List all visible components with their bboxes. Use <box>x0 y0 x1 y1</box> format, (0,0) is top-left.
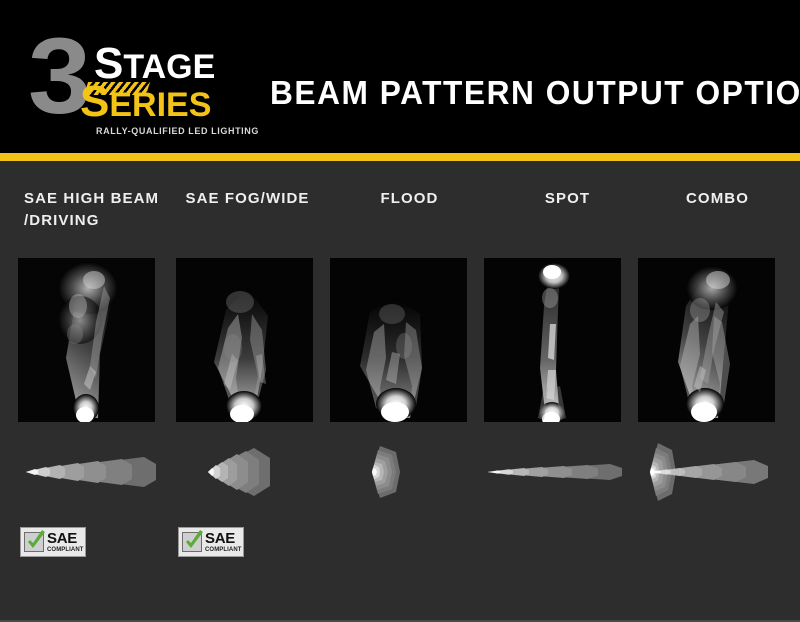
logo-tagline: RALLY-QUALIFIED LED LIGHTING <box>96 126 259 136</box>
column-label-line2: /DRIVING <box>24 212 99 229</box>
beam-column-combo: COMBO <box>638 161 793 620</box>
beam-photo-image <box>330 258 467 422</box>
beam-diagram <box>636 441 786 503</box>
beam-pattern-poster: 3 STAGE SERIES RALLY-QUALIFIED LED LIGHT… <box>0 0 800 622</box>
checkbox-frame <box>182 532 202 552</box>
accent-divider-bar <box>0 153 800 161</box>
beam-pattern-columns: SAE HIGH BEAM/DRIVING <box>0 161 800 620</box>
sae-compliant-badge: SAE COMPLIANT <box>178 527 244 557</box>
column-label-line1: SAE HIGH BEAM <box>24 190 159 207</box>
check-icon <box>23 529 49 555</box>
beam-diagram-shape <box>174 441 324 503</box>
beam-diagram-shape <box>328 441 478 503</box>
logo-numeral-3: 3 <box>28 22 86 130</box>
beam-diagram <box>328 441 478 503</box>
beam-diagram <box>482 441 632 503</box>
logo-word-series: SERIES <box>80 80 211 124</box>
beam-diagram <box>16 441 166 503</box>
check-icon <box>181 529 207 555</box>
sae-badge-subtitle: COMPLIANT <box>47 547 84 553</box>
sae-badge-subtitle: COMPLIANT <box>205 547 242 553</box>
beam-column-sae-high-beam: SAE HIGH BEAM/DRIVING <box>18 161 173 620</box>
poster-header: 3 STAGE SERIES RALLY-QUALIFIED LED LIGHT… <box>0 0 800 153</box>
checkbox-frame <box>24 532 44 552</box>
beam-photo-image <box>484 258 621 422</box>
stage-series-logo: 3 STAGE SERIES RALLY-QUALIFIED LED LIGHT… <box>28 26 243 130</box>
column-label: SAE HIGH BEAM/DRIVING <box>24 188 184 232</box>
sae-compliant-badge: SAE COMPLIANT <box>20 527 86 557</box>
beam-column-sae-fog-wide: SAE FOG/WIDE <box>176 161 331 620</box>
column-label: FLOOD <box>338 188 481 210</box>
beam-photo <box>176 258 313 422</box>
column-label: SPOT <box>496 188 639 210</box>
column-label: SAE FOG/WIDE <box>176 188 319 210</box>
beam-photo-image <box>18 258 155 422</box>
logo-series-capital: S <box>80 77 109 126</box>
beam-diagram-shape <box>482 441 632 503</box>
logo-series-rest: ERIES <box>109 86 211 124</box>
beam-photo <box>638 258 775 422</box>
beam-photo-image <box>176 258 313 422</box>
sae-badge-title: SAE <box>47 531 84 546</box>
beam-photo <box>18 258 155 422</box>
sae-badge-text: SAE COMPLIANT <box>205 531 242 553</box>
beam-photo <box>330 258 467 422</box>
beam-photo-image <box>638 258 775 422</box>
beam-diagram <box>174 441 324 503</box>
sae-badge-text: SAE COMPLIANT <box>47 531 84 553</box>
column-label: COMBO <box>646 188 789 210</box>
sae-badge-title: SAE <box>205 531 242 546</box>
beam-photo <box>484 258 621 422</box>
beam-diagram-shape <box>636 441 786 503</box>
beam-column-flood: FLOOD <box>330 161 485 620</box>
beam-column-spot: SPOT <box>484 161 639 620</box>
page-title: BEAM PATTERN OUTPUT OPTIONS <box>270 76 800 109</box>
beam-diagram-shape <box>16 441 166 503</box>
